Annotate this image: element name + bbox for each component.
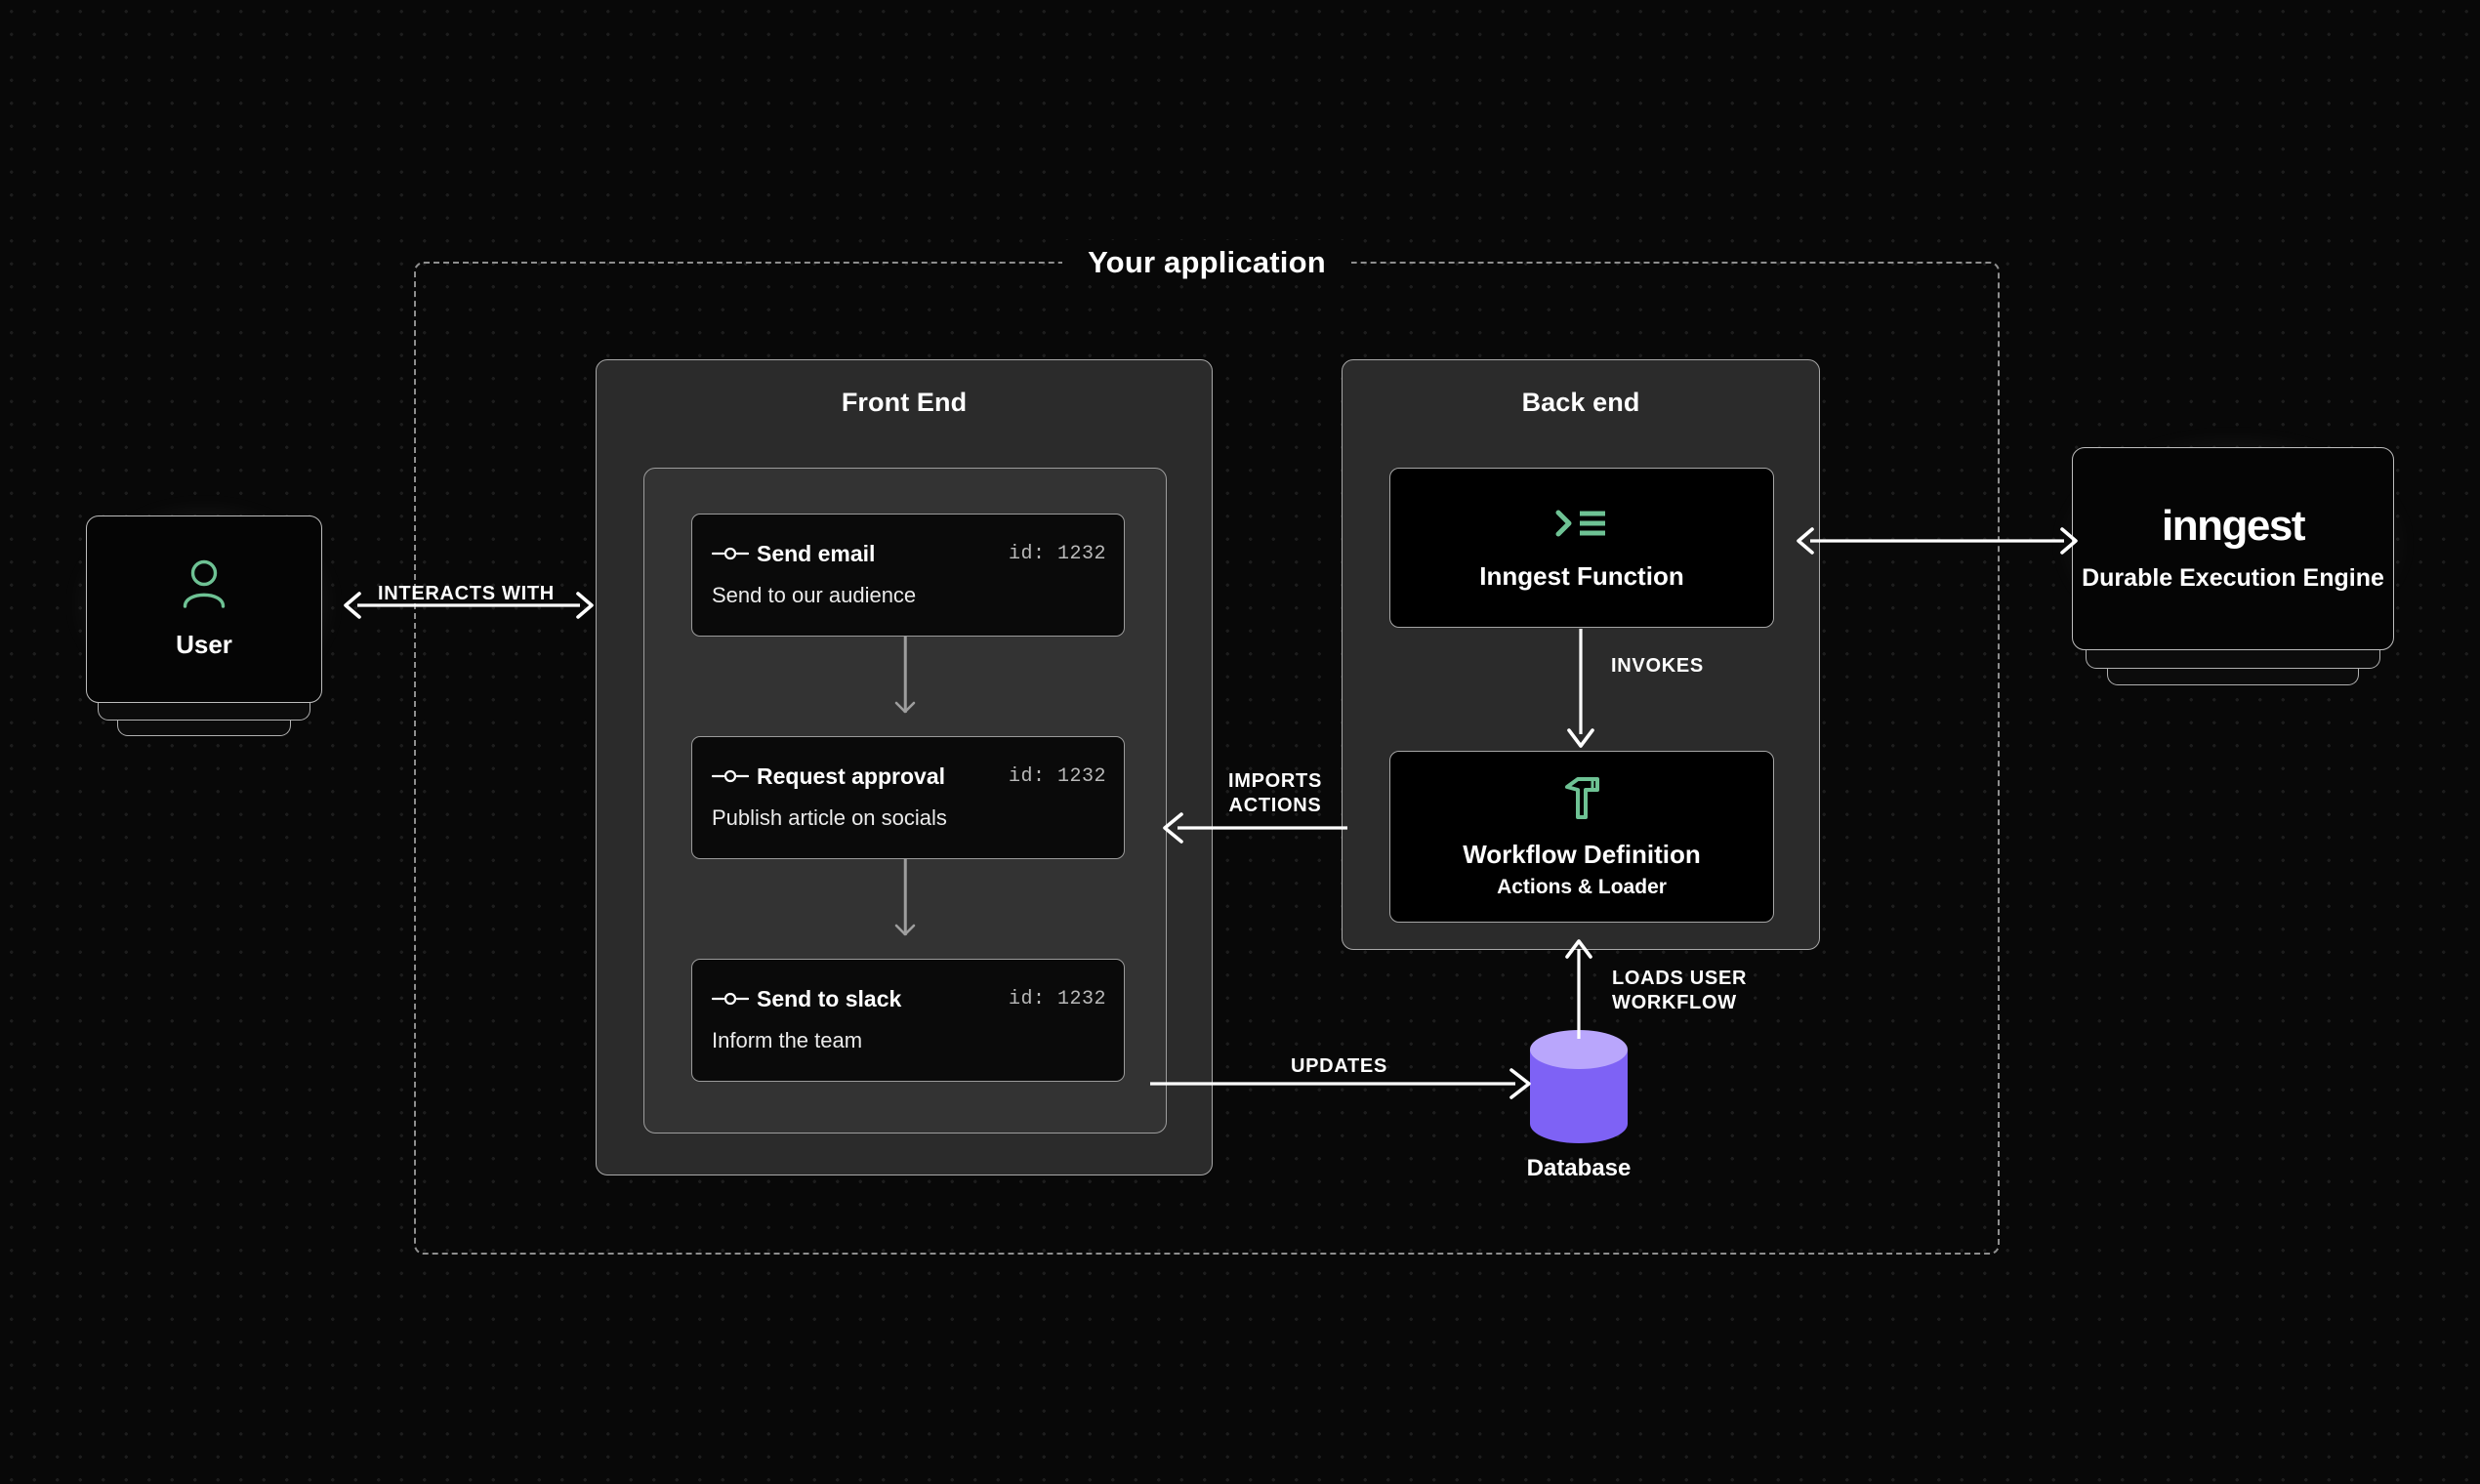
workflow-step-card[interactable]: Request approval id: 1232 Publish articl…: [691, 736, 1125, 859]
user-node-stack-layer-2: [117, 719, 291, 736]
inngest-logo-wordmark: inngest: [2162, 505, 2304, 548]
workflow-step-card[interactable]: Send email id: 1232 Send to our audience: [691, 514, 1125, 637]
diagram-canvas: Your application User inngest Durable Ex…: [0, 0, 2480, 1484]
workflow-step-description: Inform the team: [712, 1028, 862, 1053]
workflow-step-header: Request approval id: 1232: [712, 763, 1106, 790]
workflow-step-id: id: 1232: [1009, 765, 1106, 788]
user-icon: [180, 558, 228, 614]
workflow-node-icon: [712, 992, 749, 1006]
inngest-function-card[interactable]: Inngest Function: [1389, 468, 1774, 628]
workflow-step-header: Send email id: 1232: [712, 540, 1106, 567]
workflow-step-id: id: 1232: [1009, 988, 1106, 1010]
inngest-node-stack-layer-2: [2107, 667, 2359, 685]
front-end-panel: Front End Send email id: 1232 Send to ou…: [596, 359, 1213, 1175]
workflow-editor-well: Send email id: 1232 Send to our audience: [643, 468, 1167, 1134]
user-node[interactable]: User: [86, 515, 322, 703]
workflow-step-title: Request approval: [757, 763, 945, 790]
workflow-definition-card[interactable]: Workflow Definition Actions & Loader: [1389, 751, 1774, 923]
user-node-label: User: [176, 630, 232, 660]
workflow-step-id: id: 1232: [1009, 543, 1106, 565]
terminal-icon: [1554, 504, 1609, 548]
database-label: Database: [1527, 1155, 1632, 1182]
workflow-step-title: Send email: [757, 541, 875, 567]
workflow-step-description: Publish article on socials: [712, 805, 947, 831]
workflow-step-title: Send to slack: [757, 986, 901, 1012]
database-cylinder-icon: [1528, 1030, 1630, 1143]
inngest-node-body: inngest Durable Execution Engine: [2072, 447, 2394, 650]
back-end-title: Back end: [1343, 388, 1819, 418]
workflow-step-header: Send to slack id: 1232: [712, 985, 1106, 1012]
edge-label-invokes: INVOKES: [1611, 654, 1704, 679]
workflow-connector-arrow-icon: [894, 924, 916, 936]
workflow-node-icon: [712, 769, 749, 783]
inngest-node-stack-layer-1: [2086, 648, 2380, 669]
inngest-node-subtitle: Durable Execution Engine: [2082, 563, 2384, 594]
edge-label-imports-actions: IMPORTS ACTIONS: [1228, 769, 1322, 818]
edge-invokes-arrow: [1561, 629, 1600, 750]
workflow-node-icon: [712, 547, 749, 560]
front-end-title: Front End: [597, 388, 1212, 418]
user-node-stack-layer-1: [98, 701, 310, 721]
workflow-step-card[interactable]: Send to slack id: 1232 Inform the team: [691, 959, 1125, 1082]
inngest-function-title: Inngest Function: [1479, 561, 1683, 592]
edge-label-interacts-with: INTERACTS WITH: [378, 582, 555, 606]
workflow-step-description: Send to our audience: [712, 583, 916, 608]
hammer-icon: [1560, 774, 1603, 826]
edge-label-updates: UPDATES: [1291, 1054, 1387, 1079]
edge-label-loads-user-workflow: LOADS USER WORKFLOW: [1612, 967, 1747, 1015]
user-node-body: User: [86, 515, 322, 703]
edge-loads-user-workflow-arrow: [1559, 937, 1598, 1039]
workflow-definition-title: Workflow Definition: [1463, 840, 1701, 870]
workflow-connector-arrow-icon: [894, 701, 916, 714]
inngest-engine-node[interactable]: inngest Durable Execution Engine: [2072, 447, 2394, 650]
workflow-definition-subtitle: Actions & Loader: [1497, 876, 1667, 899]
edge-backend-inngest-arrow: [1793, 521, 2082, 560]
database-node[interactable]: Database: [1528, 1030, 1630, 1143]
